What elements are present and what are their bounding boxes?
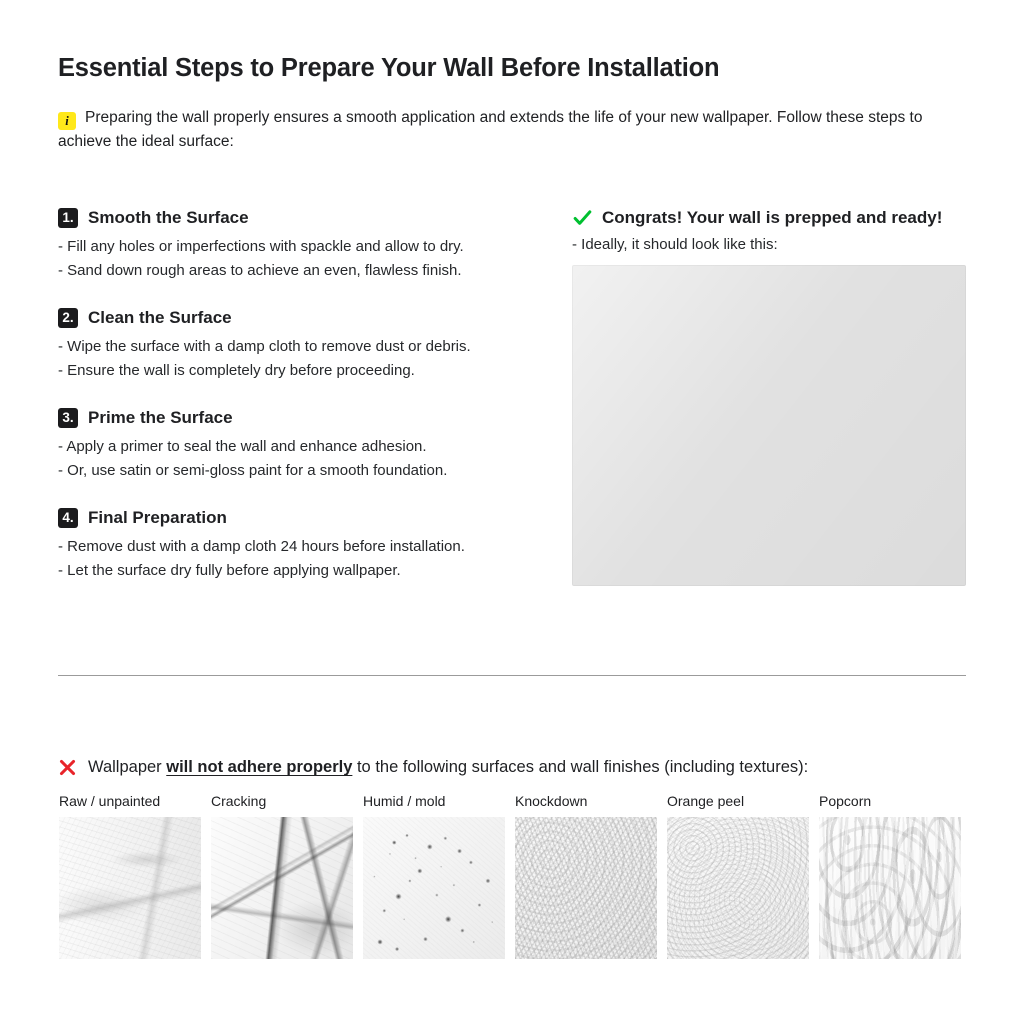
step-detail-line: - Sand down rough areas to achieve an ev… [58,259,558,283]
step-detail-line: - Wipe the surface with a damp cloth to … [58,335,558,359]
step-header: 3. Prime the Surface [58,408,558,428]
step-item: 3. Prime the Surface - Apply a primer to… [58,408,558,482]
bad-surface-item: Orange peel [667,792,809,959]
step-detail-line: - Apply a primer to seal the wall and en… [58,435,558,459]
bad-surface-label: Popcorn [819,792,961,810]
bad-surface-thumbnail-raw-unpainted [59,817,201,959]
bad-surface-label: Cracking [211,792,353,810]
bad-surface-item: Popcorn [819,792,961,959]
smooth-prepped-wall-sample [572,265,966,586]
x-icon [58,758,77,777]
bad-surface-label: Raw / unpainted [59,792,201,810]
step-detail-line: - Ensure the wall is completely dry befo… [58,359,558,383]
check-icon [572,208,593,228]
bad-surface-label: Orange peel [667,792,809,810]
step-header: 1. Smooth the Surface [58,208,558,228]
page-title: Essential Steps to Prepare Your Wall Bef… [58,54,719,83]
bad-surface-thumbnail-popcorn [819,817,961,959]
warning-emphasis: will not adhere properly [166,758,352,776]
step-number-badge: 1. [58,208,78,228]
bad-surface-thumbnail-cracking [211,817,353,959]
step-header: 4. Final Preparation [58,508,558,528]
wall-preparation-guide-page: Essential Steps to Prepare Your Wall Bef… [0,0,1024,1024]
bad-surface-item: Knockdown [515,792,657,959]
bad-surface-thumbnail-orange-peel [667,817,809,959]
good-example-subtitle: - Ideally, it should look like this: [572,233,966,256]
bad-surface-item: Humid / mold [363,792,505,959]
info-icon: i [58,112,76,130]
section-divider [58,675,966,676]
step-item: 2. Clean the Surface - Wipe the surface … [58,308,558,382]
step-number-badge: 2. [58,308,78,328]
intro-paragraph: iPreparing the wall properly ensures a s… [58,106,978,154]
bad-surfaces-row: Raw / unpainted Cracking Humid / mold Kn… [59,792,969,959]
bad-surface-thumbnail-humid-mold [363,817,505,959]
steps-column: 1. Smooth the Surface - Fill any holes o… [58,208,558,582]
bad-surface-item: Raw / unpainted [59,792,201,959]
step-number-badge: 3. [58,408,78,428]
step-title: Clean the Surface [88,308,232,328]
step-number-badge: 4. [58,508,78,528]
good-example-title: Congrats! Your wall is prepped and ready… [602,208,942,228]
warning-suffix: to the following surfaces and wall finis… [352,758,808,776]
bad-surfaces-header: Wallpaper will not adhere properly to th… [58,758,808,777]
step-detail-line: - Remove dust with a damp cloth 24 hours… [58,535,558,559]
intro-text: Preparing the wall properly ensures a sm… [58,109,922,150]
step-detail-line: - Fill any holes or imperfections with s… [58,235,558,259]
step-item: 4. Final Preparation - Remove dust with … [58,508,558,582]
warning-prefix: Wallpaper [88,758,166,776]
step-item: 1. Smooth the Surface - Fill any holes o… [58,208,558,282]
step-detail-line: - Or, use satin or semi-gloss paint for … [58,459,558,483]
bad-surface-item: Cracking [211,792,353,959]
bad-surface-label: Knockdown [515,792,657,810]
good-example-header: Congrats! Your wall is prepped and ready… [572,208,966,228]
step-title: Smooth the Surface [88,208,249,228]
bad-surface-thumbnail-knockdown [515,817,657,959]
good-example-column: Congrats! Your wall is prepped and ready… [572,208,966,586]
step-header: 2. Clean the Surface [58,308,558,328]
bad-surface-label: Humid / mold [363,792,505,810]
step-title: Final Preparation [88,508,227,528]
step-title: Prime the Surface [88,408,233,428]
bad-surfaces-grid: Raw / unpainted Cracking Humid / mold Kn… [59,792,969,959]
step-detail-line: - Let the surface dry fully before apply… [58,559,558,583]
bad-surfaces-warning: Wallpaper will not adhere properly to th… [88,758,808,777]
